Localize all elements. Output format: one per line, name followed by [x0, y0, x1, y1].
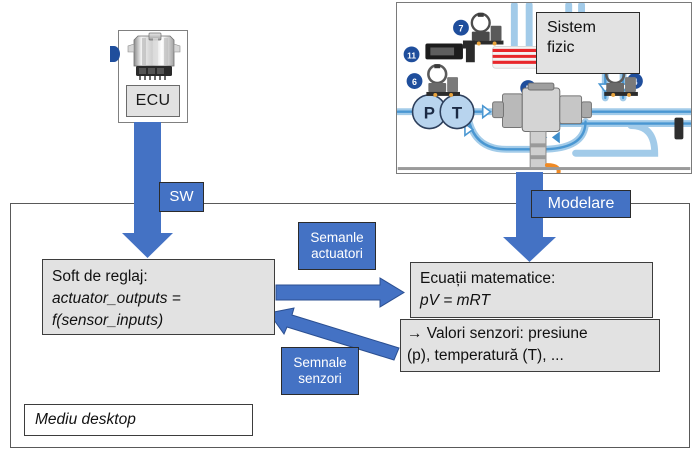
ecu-label: ECU: [136, 92, 171, 110]
sensor-signals-label: Semnale senzori: [281, 347, 359, 395]
svg-text:T: T: [452, 104, 463, 123]
soft-box-line3: f(sensor_inputs): [52, 310, 274, 332]
actuator-signals-line1: Semanle: [310, 230, 363, 246]
ecu-module-svg: [124, 32, 184, 85]
math-equations-box: Ecuații matematice: pV = mRT: [410, 262, 653, 318]
soft-box-line2: actuator_outputs =: [52, 288, 274, 310]
sistem-fizic-line2: fizic: [547, 38, 639, 58]
ecu-label-box: ECU: [126, 85, 180, 117]
modelare-label: Modelare: [531, 190, 631, 218]
sistem-fizic-line1: Sistem: [547, 18, 639, 38]
svg-text:P: P: [424, 104, 435, 123]
soft-box-line1: Soft de reglaj:: [52, 266, 274, 288]
sensor-values-box: → Valori senzori: presiune (p), temperat…: [400, 319, 660, 372]
modelare-label-text: Modelare: [548, 194, 615, 213]
valori-box-line2: (p), temperatură (T), ...: [407, 345, 659, 367]
svg-text:6: 6: [412, 77, 417, 87]
valori-box-line1: → Valori senzori: presiune: [407, 323, 659, 345]
ecu-module-icon: [124, 32, 184, 85]
ecuatii-box-line2: pV = mRT: [420, 290, 652, 312]
sensor-signals-line2: senzori: [298, 371, 342, 387]
sw-label-text: SW: [169, 188, 193, 206]
ecu-card: ECU: [118, 30, 188, 123]
sistem-fizic-label-box: Sistem fizic: [536, 12, 640, 74]
sensor-signals-line1: Semnale: [293, 355, 346, 371]
control-software-box: Soft de reglaj: actuator_outputs = f(sen…: [42, 259, 275, 335]
svg-text:7: 7: [459, 24, 464, 34]
ecuatii-box-line1: Ecuații matematice:: [420, 268, 652, 290]
sw-label: SW: [159, 182, 204, 212]
actuator-signals-label: Semanle actuatori: [298, 222, 376, 270]
mediu-desktop-label: Mediu desktop: [35, 411, 136, 429]
actuator-signals-line2: actuatori: [311, 246, 363, 262]
desktop-environment-label-box: Mediu desktop: [24, 404, 253, 436]
svg-text:11: 11: [407, 50, 416, 60]
